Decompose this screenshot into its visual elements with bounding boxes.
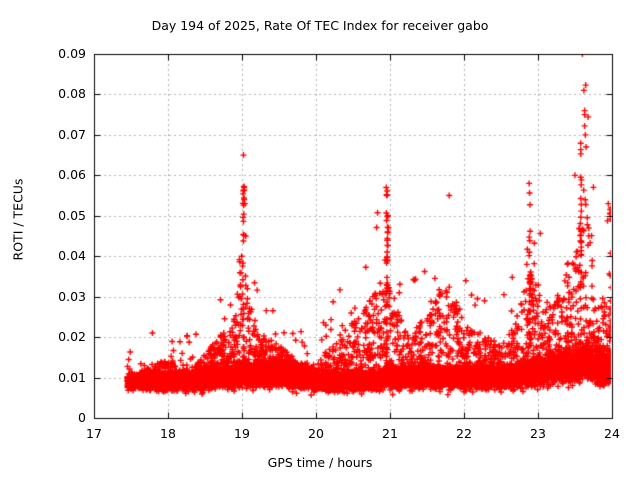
y-tick-label: 0 <box>26 410 86 425</box>
x-tick-label: 19 <box>222 426 262 441</box>
y-tick-label: 0.02 <box>26 329 86 344</box>
scatter-plot-canvas <box>0 0 640 480</box>
x-tick-label: 18 <box>148 426 188 441</box>
y-tick-label: 0.09 <box>26 46 86 61</box>
x-tick-label: 23 <box>518 426 558 441</box>
chart-container: Day 194 of 2025, Rate Of TEC Index for r… <box>0 0 640 480</box>
x-tick-label: 17 <box>74 426 114 441</box>
y-tick-label: 0.05 <box>26 208 86 223</box>
y-tick-label: 0.06 <box>26 167 86 182</box>
y-tick-label: 0.04 <box>26 248 86 263</box>
x-tick-label: 21 <box>370 426 410 441</box>
y-tick-label: 0.07 <box>26 127 86 142</box>
y-tick-label: 0.08 <box>26 86 86 101</box>
x-tick-label: 24 <box>592 426 632 441</box>
x-tick-label: 22 <box>444 426 484 441</box>
y-tick-label: 0.03 <box>26 289 86 304</box>
y-tick-label: 0.01 <box>26 370 86 385</box>
x-tick-label: 20 <box>296 426 336 441</box>
